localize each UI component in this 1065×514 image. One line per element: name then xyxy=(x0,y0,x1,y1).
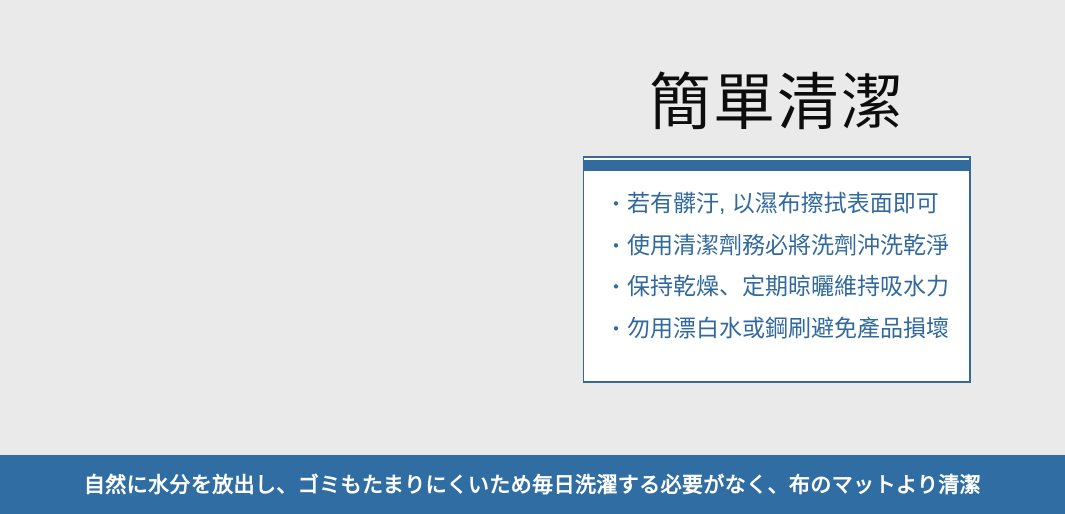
bullet-dot-icon: ・ xyxy=(606,311,626,351)
list-item-label: 若有髒汙, 以濕布擦拭表面即可 xyxy=(627,184,939,224)
accent-bar xyxy=(584,160,969,171)
bottom-banner: 自然に水分を放出し、ゴミもたまりにくいため毎日洗濯する必要がなく、布のマットより… xyxy=(0,455,1065,514)
bullet-dot-icon: ・ xyxy=(606,269,626,309)
list-item: ・ 使用清潔劑務必將洗劑沖洗乾淨 xyxy=(606,226,957,268)
slide-canvas: 簡單清潔 ・ 若有髒汙, 以濕布擦拭表面即可 ・ 使用清潔劑務必將洗劑沖洗乾淨 … xyxy=(0,0,1065,514)
list-item-label: 保持乾燥、定期晾曬維持吸水力 xyxy=(627,267,949,307)
cleaning-instructions-list: ・ 若有髒汙, 以濕布擦拭表面即可 ・ 使用清潔劑務必將洗劑沖洗乾淨 ・ 保持乾… xyxy=(584,184,969,350)
page-title: 簡單清潔 xyxy=(583,66,971,142)
list-item: ・ 勿用漂白水或鋼刷避免產品損壞 xyxy=(606,309,957,351)
list-item-label: 使用清潔劑務必將洗劑沖洗乾淨 xyxy=(627,226,949,266)
list-item: ・ 保持乾燥、定期晾曬維持吸水力 xyxy=(606,267,957,309)
bullet-dot-icon: ・ xyxy=(606,186,626,226)
bullet-dot-icon: ・ xyxy=(606,228,626,268)
banner-caption: 自然に水分を放出し、ゴミもたまりにくいため毎日洗濯する必要がなく、布のマットより… xyxy=(84,470,981,500)
list-item-label: 勿用漂白水或鋼刷避免產品損壞 xyxy=(627,309,949,349)
cleaning-instructions-box: ・ 若有髒汙, 以濕布擦拭表面即可 ・ 使用清潔劑務必將洗劑沖洗乾淨 ・ 保持乾… xyxy=(583,156,971,383)
list-item: ・ 若有髒汙, 以濕布擦拭表面即可 xyxy=(606,184,957,226)
